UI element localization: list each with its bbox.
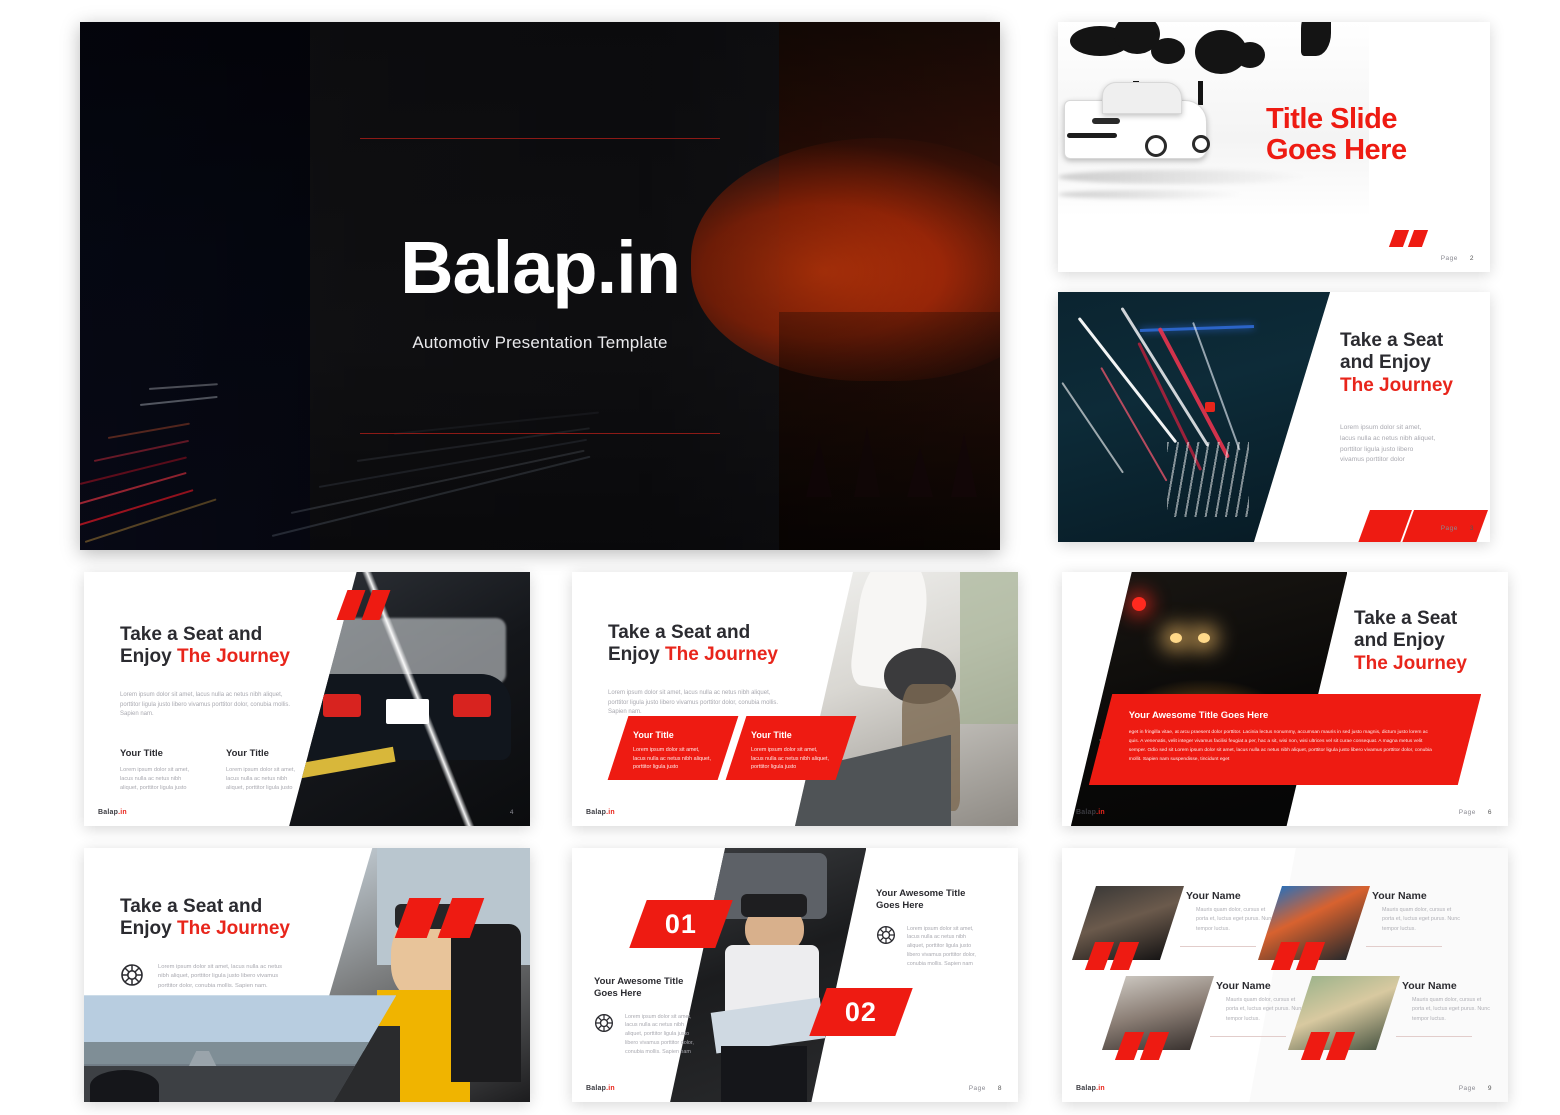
number-value: 02 xyxy=(845,997,877,1028)
slide6-heading-line2: and Enjoy xyxy=(1354,630,1494,652)
balapin-mark-icon xyxy=(1306,1032,1352,1060)
team-member[interactable]: Your Name Mauris quam dolor, cursus et p… xyxy=(1114,976,1304,1062)
member-rule xyxy=(1396,1036,1472,1037)
slide-3-intro[interactable]: Take a Seat and Enjoy The Journey Lorem … xyxy=(1058,292,1490,542)
slide2-title: Title Slide Goes Here xyxy=(1266,104,1476,167)
slide4-column: Your Title Lorem ipsum dolor sit amet, l… xyxy=(120,748,194,793)
item-body: Lorem ipsum dolor sit amet, lacus nulla … xyxy=(625,1013,695,1057)
slide-2-title[interactable]: Title Slide Goes Here Page2 xyxy=(1058,22,1490,272)
slide2-title-line2: Goes Here xyxy=(1266,135,1476,166)
member-rule xyxy=(1180,946,1256,947)
slide4-page-indicator: 4 xyxy=(510,809,514,816)
slide6-footer-logo: Balap.in xyxy=(1076,809,1105,816)
page-label: Page xyxy=(1459,1085,1476,1092)
member-name: Your Name xyxy=(1186,890,1241,902)
slide8-number-tag[interactable]: 01 xyxy=(629,900,732,948)
page-label: Page xyxy=(1441,525,1458,532)
slide2-page-indicator: Page2 xyxy=(1441,255,1474,262)
slide3-heading-line1: Take a Seat xyxy=(1340,330,1480,352)
number-value: 01 xyxy=(665,909,697,940)
footer-logo-suffix: .in xyxy=(1096,809,1105,816)
footer-logo-main: Balap xyxy=(586,1085,606,1092)
team-member[interactable]: Your Name Mauris quam dolor, cursus et p… xyxy=(1300,976,1490,1062)
page-label: Page xyxy=(1441,255,1458,262)
card-inner: Your Title Lorem ipsum dolor sit amet, l… xyxy=(735,716,845,786)
slide4-text-block: Take a Seat and Enjoy The Journey Lorem … xyxy=(120,624,300,793)
template-showcase-canvas: Balap.in Automotiv Presentation Template xyxy=(0,0,1560,1115)
slide9-page-indicator: Page9 xyxy=(1459,1085,1492,1092)
page-value: 3 xyxy=(1470,525,1474,532)
slide-7-icon-text[interactable]: Take a Seat and Enjoy The Journey Lorem … xyxy=(84,848,530,1102)
footer-logo-main: Balap xyxy=(1076,809,1096,816)
slide-5-red-cards[interactable]: Take a Seat and Enjoy The Journey Lorem … xyxy=(572,572,1018,826)
member-bio: Mauris quam dolor, cursus et porta et, l… xyxy=(1382,906,1460,934)
item-title-line2: Goes Here xyxy=(876,900,996,912)
slide3-heading: Take a Seat and Enjoy The Journey xyxy=(1340,330,1480,397)
cover-content: Balap.in Automotiv Presentation Template xyxy=(80,22,1000,550)
slide4-heading-line2: Enjoy xyxy=(120,646,177,667)
member-name: Your Name xyxy=(1402,980,1457,992)
member-bio: Mauris quam dolor, cursus et porta et, l… xyxy=(1196,906,1274,934)
column-title: Your Title xyxy=(226,748,300,759)
member-name: Your Name xyxy=(1216,980,1271,992)
balapin-mark-icon xyxy=(1120,1032,1166,1060)
team-member[interactable]: Your Name Mauris quam dolor, cursus et p… xyxy=(1270,886,1460,972)
slide8-item-text: Your Awesome Title Goes Here Lorem ipsum… xyxy=(594,976,714,1056)
slide2-title-line1: Title Slide xyxy=(1266,104,1476,135)
footer-logo-suffix: .in xyxy=(118,809,127,816)
slide6-page-indicator: Page6 xyxy=(1459,809,1492,816)
slide7-heading: Take a Seat and Enjoy The Journey xyxy=(120,896,306,941)
slide-1-cover[interactable]: Balap.in Automotiv Presentation Template xyxy=(80,22,1000,550)
page-label: Page xyxy=(1459,809,1476,816)
slide-8-numbered[interactable]: 01 02 Your Awesome Title Goes Here Lorem… xyxy=(572,848,1018,1102)
column-title: Your Title xyxy=(120,748,194,759)
item-icon-row: Lorem ipsum dolor sit amet, lacus nulla … xyxy=(876,925,996,969)
column-body: Lorem ipsum dolor sit amet, lacus nulla … xyxy=(120,766,194,793)
item-body: Lorem ipsum dolor sit amet, lacus nulla … xyxy=(907,925,977,969)
slide3-page-indicator: Page3 xyxy=(1441,525,1474,532)
slide7-heading-line1: Take a Seat and xyxy=(120,896,306,918)
slide3-body: Lorem ipsum dolor sit amet, lacus nulla … xyxy=(1340,423,1436,466)
page-value: 8 xyxy=(998,1085,1002,1092)
page-value: 9 xyxy=(1488,1085,1492,1092)
slide-4-two-column[interactable]: Take a Seat and Enjoy The Journey Lorem … xyxy=(84,572,530,826)
slide4-heading-line1: Take a Seat and xyxy=(120,624,300,646)
slide6-heading: Take a Seat and Enjoy The Journey xyxy=(1354,608,1494,675)
slide5-body: Lorem ipsum dolor sit amet, lacus nulla … xyxy=(608,689,780,718)
slide7-heading-line2-wrap: Enjoy The Journey xyxy=(120,918,306,940)
banner-body: eget in fringilla vitae, at arcu praesen… xyxy=(1129,728,1436,764)
slide4-heading: Take a Seat and Enjoy The Journey xyxy=(120,624,300,669)
member-bio: Mauris quam dolor, cursus et porta et, l… xyxy=(1226,996,1304,1024)
slide5-heading-line2-wrap: Enjoy The Journey xyxy=(608,644,798,666)
slide3-text-block: Take a Seat and Enjoy The Journey Lorem … xyxy=(1340,330,1480,466)
item-title-line1: Your Awesome Title xyxy=(594,976,714,988)
slide9-footer-logo: Balap.in xyxy=(1076,1085,1105,1092)
footer-logo-main: Balap xyxy=(98,809,118,816)
slide7-icon-row: Lorem ipsum dolor sit amet, lacus nulla … xyxy=(120,963,306,991)
slide5-footer-logo: Balap.in xyxy=(586,809,615,816)
slide7-heading-line2: Enjoy xyxy=(120,918,177,939)
slide7-heading-accent: The Journey xyxy=(177,918,290,939)
wheel-icon xyxy=(876,925,896,945)
slide4-column: Your Title Lorem ipsum dolor sit amet, l… xyxy=(226,748,300,793)
footer-logo-suffix: .in xyxy=(1096,1085,1105,1092)
slide6-heading-line1: Take a Seat xyxy=(1354,608,1494,630)
slide5-heading-line2: Enjoy xyxy=(608,644,665,665)
cover-subtitle: Automotiv Presentation Template xyxy=(412,333,667,353)
slide3-highway-photo xyxy=(1058,292,1330,542)
balapin-mark-icon xyxy=(1276,942,1322,970)
slide4-carwash-photo xyxy=(289,572,530,826)
card-body: Lorem ipsum dolor sit amet, lacus nulla … xyxy=(751,746,829,772)
item-title-line1: Your Awesome Title xyxy=(876,888,996,900)
banner-title: Your Awesome Title Goes Here xyxy=(1129,710,1455,721)
column-body: Lorem ipsum dolor sit amet, lacus nulla … xyxy=(226,766,300,793)
slide-6-banner[interactable]: Take a Seat and Enjoy The Journey Your A… xyxy=(1062,572,1508,826)
card-inner: Your Title Lorem ipsum dolor sit amet, l… xyxy=(617,716,727,786)
slide5-heading-line1: Take a Seat and xyxy=(608,622,798,644)
member-rule xyxy=(1210,1036,1286,1037)
balapin-mark-icon xyxy=(342,590,386,620)
footer-logo-suffix: .in xyxy=(606,809,615,816)
page-value: 2 xyxy=(1470,255,1474,262)
member-bio: Mauris quam dolor, cursus et porta et, l… xyxy=(1412,996,1490,1024)
slide5-red-card[interactable]: Your Title Lorem ipsum dolor sit amet, l… xyxy=(726,716,857,780)
wheel-icon xyxy=(120,963,144,987)
item-title: Your Awesome Title Goes Here xyxy=(594,976,714,1001)
banner-inner: Your Awesome Title Goes Here eget in fri… xyxy=(1089,694,1481,764)
slide4-columns: Your Title Lorem ipsum dolor sit amet, l… xyxy=(120,748,300,793)
slide4-body: Lorem ipsum dolor sit amet, lacus nulla … xyxy=(120,691,292,720)
cover-title: Balap.in xyxy=(400,231,680,305)
member-rule xyxy=(1366,946,1442,947)
page-label: Page xyxy=(969,1085,986,1092)
member-name: Your Name xyxy=(1372,890,1427,902)
item-icon-row: Lorem ipsum dolor sit amet, lacus nulla … xyxy=(594,1013,714,1057)
page-value: 6 xyxy=(1488,809,1492,816)
slide6-text-block: Take a Seat and Enjoy The Journey xyxy=(1354,608,1494,675)
slide5-red-card[interactable]: Your Title Lorem ipsum dolor sit amet, l… xyxy=(608,716,739,780)
slide6-heading-accent: The Journey xyxy=(1354,653,1494,675)
cover-rule-top xyxy=(360,138,720,139)
slide4-footer-logo: Balap.in xyxy=(98,809,127,816)
footer-logo-main: Balap xyxy=(1076,1085,1096,1092)
balapin-mark-icon xyxy=(1090,942,1136,970)
slide4-heading-line2-wrap: Enjoy The Journey xyxy=(120,646,300,668)
cover-rule-bottom xyxy=(360,433,720,434)
slide7-text-block: Take a Seat and Enjoy The Journey Lorem … xyxy=(120,896,306,991)
slide5-heading-accent: The Journey xyxy=(665,644,778,665)
slide5-text-block: Take a Seat and Enjoy The Journey Lorem … xyxy=(608,622,798,718)
slide3-heading-line2: and Enjoy xyxy=(1340,352,1480,374)
team-member[interactable]: Your Name Mauris quam dolor, cursus et p… xyxy=(1084,886,1274,972)
footer-logo-suffix: .in xyxy=(606,1085,615,1092)
slide3-heading-accent: The Journey xyxy=(1340,375,1480,397)
card-title: Your Title xyxy=(633,730,711,740)
card-body: Lorem ipsum dolor sit amet, lacus nulla … xyxy=(633,746,711,772)
slide5-traveler-photo xyxy=(795,572,1018,826)
slide8-page-indicator: Page8 xyxy=(969,1085,1002,1092)
slide4-heading-accent: The Journey xyxy=(177,646,290,667)
slide-9-team[interactable]: Your Name Mauris quam dolor, cursus et p… xyxy=(1062,848,1508,1102)
item-title-line2: Goes Here xyxy=(594,988,714,1000)
footer-logo-main: Balap xyxy=(586,809,606,816)
slide8-item-text: Your Awesome Title Goes Here Lorem ipsum… xyxy=(876,888,996,968)
wheel-icon xyxy=(594,1013,614,1033)
slide8-footer-logo: Balap.in xyxy=(586,1085,615,1092)
slide7-body: Lorem ipsum dolor sit amet, lacus nulla … xyxy=(158,963,294,991)
slide8-map-reader-photo xyxy=(670,848,866,1102)
slide6-red-banner[interactable]: Your Awesome Title Goes Here eget in fri… xyxy=(1089,694,1481,785)
balapin-mark-icon xyxy=(1392,230,1426,247)
slide5-heading: Take a Seat and Enjoy The Journey xyxy=(608,622,798,667)
balapin-mark-icon xyxy=(402,898,478,938)
slide8-number-tag[interactable]: 02 xyxy=(809,988,912,1036)
card-title: Your Title xyxy=(751,730,829,740)
item-title: Your Awesome Title Goes Here xyxy=(876,888,996,913)
